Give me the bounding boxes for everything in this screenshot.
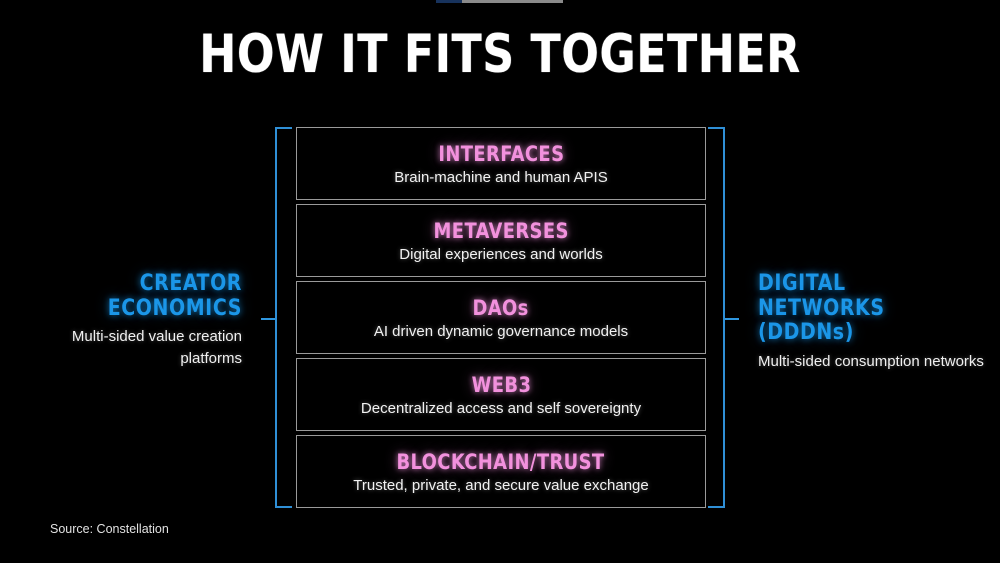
- right-bracket-arm-top: [708, 127, 725, 129]
- left-label-body: Multi-sided value creation platforms: [12, 326, 242, 370]
- left-bracket: [262, 127, 284, 508]
- right-bracket-arm-bottom: [708, 506, 725, 508]
- layer-description: Brain-machine and human APIS: [394, 169, 607, 186]
- left-bracket-connector-tick: [261, 318, 275, 320]
- right-label-heading-line-2: (DDDNs): [758, 321, 979, 346]
- right-bracket: [716, 127, 738, 508]
- left-bracket-arm-bottom: [275, 506, 292, 508]
- left-bracket-arm-top: [275, 127, 292, 129]
- right-side-label: DIGITAL NETWORKS (DDDNs) Multi-sided con…: [758, 272, 988, 373]
- layer-stack: INTERFACES Brain-machine and human APIS …: [296, 127, 706, 508]
- right-label-heading-line-1: DIGITAL NETWORKS: [758, 272, 979, 321]
- layer-box: BLOCKCHAIN/TRUST Trusted, private, and s…: [296, 435, 706, 508]
- layer-description: Digital experiences and worlds: [399, 246, 602, 263]
- left-label-heading: CREATOR ECONOMICS: [21, 272, 242, 321]
- layer-box: DAOs AI driven dynamic governance models: [296, 281, 706, 354]
- left-label-heading-line-2: ECONOMICS: [21, 297, 242, 322]
- source-credit: Source: Constellation: [50, 522, 169, 536]
- right-label-heading: DIGITAL NETWORKS (DDDNs): [758, 272, 979, 346]
- layer-box: INTERFACES Brain-machine and human APIS: [296, 127, 706, 200]
- top-decorative-bar-accent: [436, 0, 462, 3]
- layer-title: BLOCKCHAIN/TRUST: [397, 450, 605, 474]
- layer-description: Decentralized access and self sovereignt…: [361, 400, 641, 417]
- left-label-heading-line-1: CREATOR: [21, 272, 242, 297]
- layer-description: Trusted, private, and secure value excha…: [353, 477, 648, 494]
- layer-title: INTERFACES: [438, 142, 564, 166]
- layer-title: METAVERSES: [433, 219, 568, 243]
- layer-description: AI driven dynamic governance models: [374, 323, 628, 340]
- right-label-body: Multi-sided consumption networks: [758, 351, 988, 373]
- page-title: HOW IT FITS TOGETHER: [35, 28, 965, 81]
- layer-box: METAVERSES Digital experiences and world…: [296, 204, 706, 277]
- layer-box: WEB3 Decentralized access and self sover…: [296, 358, 706, 431]
- left-bracket-spine: [275, 127, 277, 508]
- left-side-label: CREATOR ECONOMICS Multi-sided value crea…: [12, 272, 242, 370]
- layer-title: WEB3: [471, 373, 531, 397]
- right-bracket-connector-tick: [725, 318, 739, 320]
- layer-title: DAOs: [473, 296, 529, 320]
